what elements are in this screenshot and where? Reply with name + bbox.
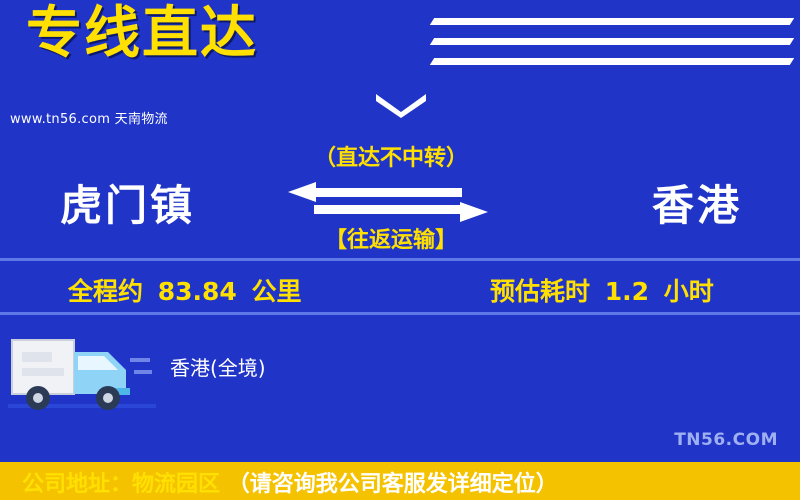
direct-no-transfer-label: （直达不中转）: [298, 140, 484, 172]
round-trip-label: 【往返运输】: [298, 222, 484, 254]
divider-bottom: [0, 312, 800, 315]
watermark-label: TN56.COM: [674, 430, 778, 450]
distance-unit: 公里: [252, 277, 302, 306]
delivery-truck-icon: [8, 318, 156, 422]
footer-text: 公司地址：物流园区 （请咨询我公司客服发详细定位）: [22, 466, 558, 498]
duration-label: 预估耗时: [490, 277, 590, 306]
stripe-line: [430, 18, 794, 25]
duration-stat: 预估耗时 1.2 小时: [490, 272, 714, 308]
stripe-line: [430, 38, 794, 45]
distance-stat: 全程约 83.84 公里: [68, 272, 302, 308]
distance-label: 全程约: [68, 277, 143, 306]
chevron-down-icon: [374, 92, 428, 118]
distance-value: 83.84: [152, 277, 243, 306]
logistics-route-banner: 专线直达 www.tn56.com 天南物流 虎门镇 香港 （直达不中转） 【往…: [0, 0, 800, 500]
two-way-arrows-icon: [288, 182, 488, 222]
duration-unit: 小时: [664, 277, 714, 306]
decorative-stripes: [412, 8, 792, 90]
stripe-line: [430, 58, 794, 65]
duration-value: 1.2: [599, 277, 655, 306]
footer-address-label: 公司地址：物流园区: [22, 472, 220, 497]
divider-top: [0, 258, 800, 261]
footer-note-label: （请咨询我公司客服发详细定位）: [228, 472, 558, 497]
origin-city-label: 虎门镇: [60, 172, 195, 233]
site-url-label: www.tn56.com 天南物流: [10, 108, 168, 127]
destination-city-label: 香港: [652, 172, 742, 233]
headline-text: 专线直达: [26, 6, 258, 62]
coverage-area-label: 香港(全境): [170, 352, 266, 381]
